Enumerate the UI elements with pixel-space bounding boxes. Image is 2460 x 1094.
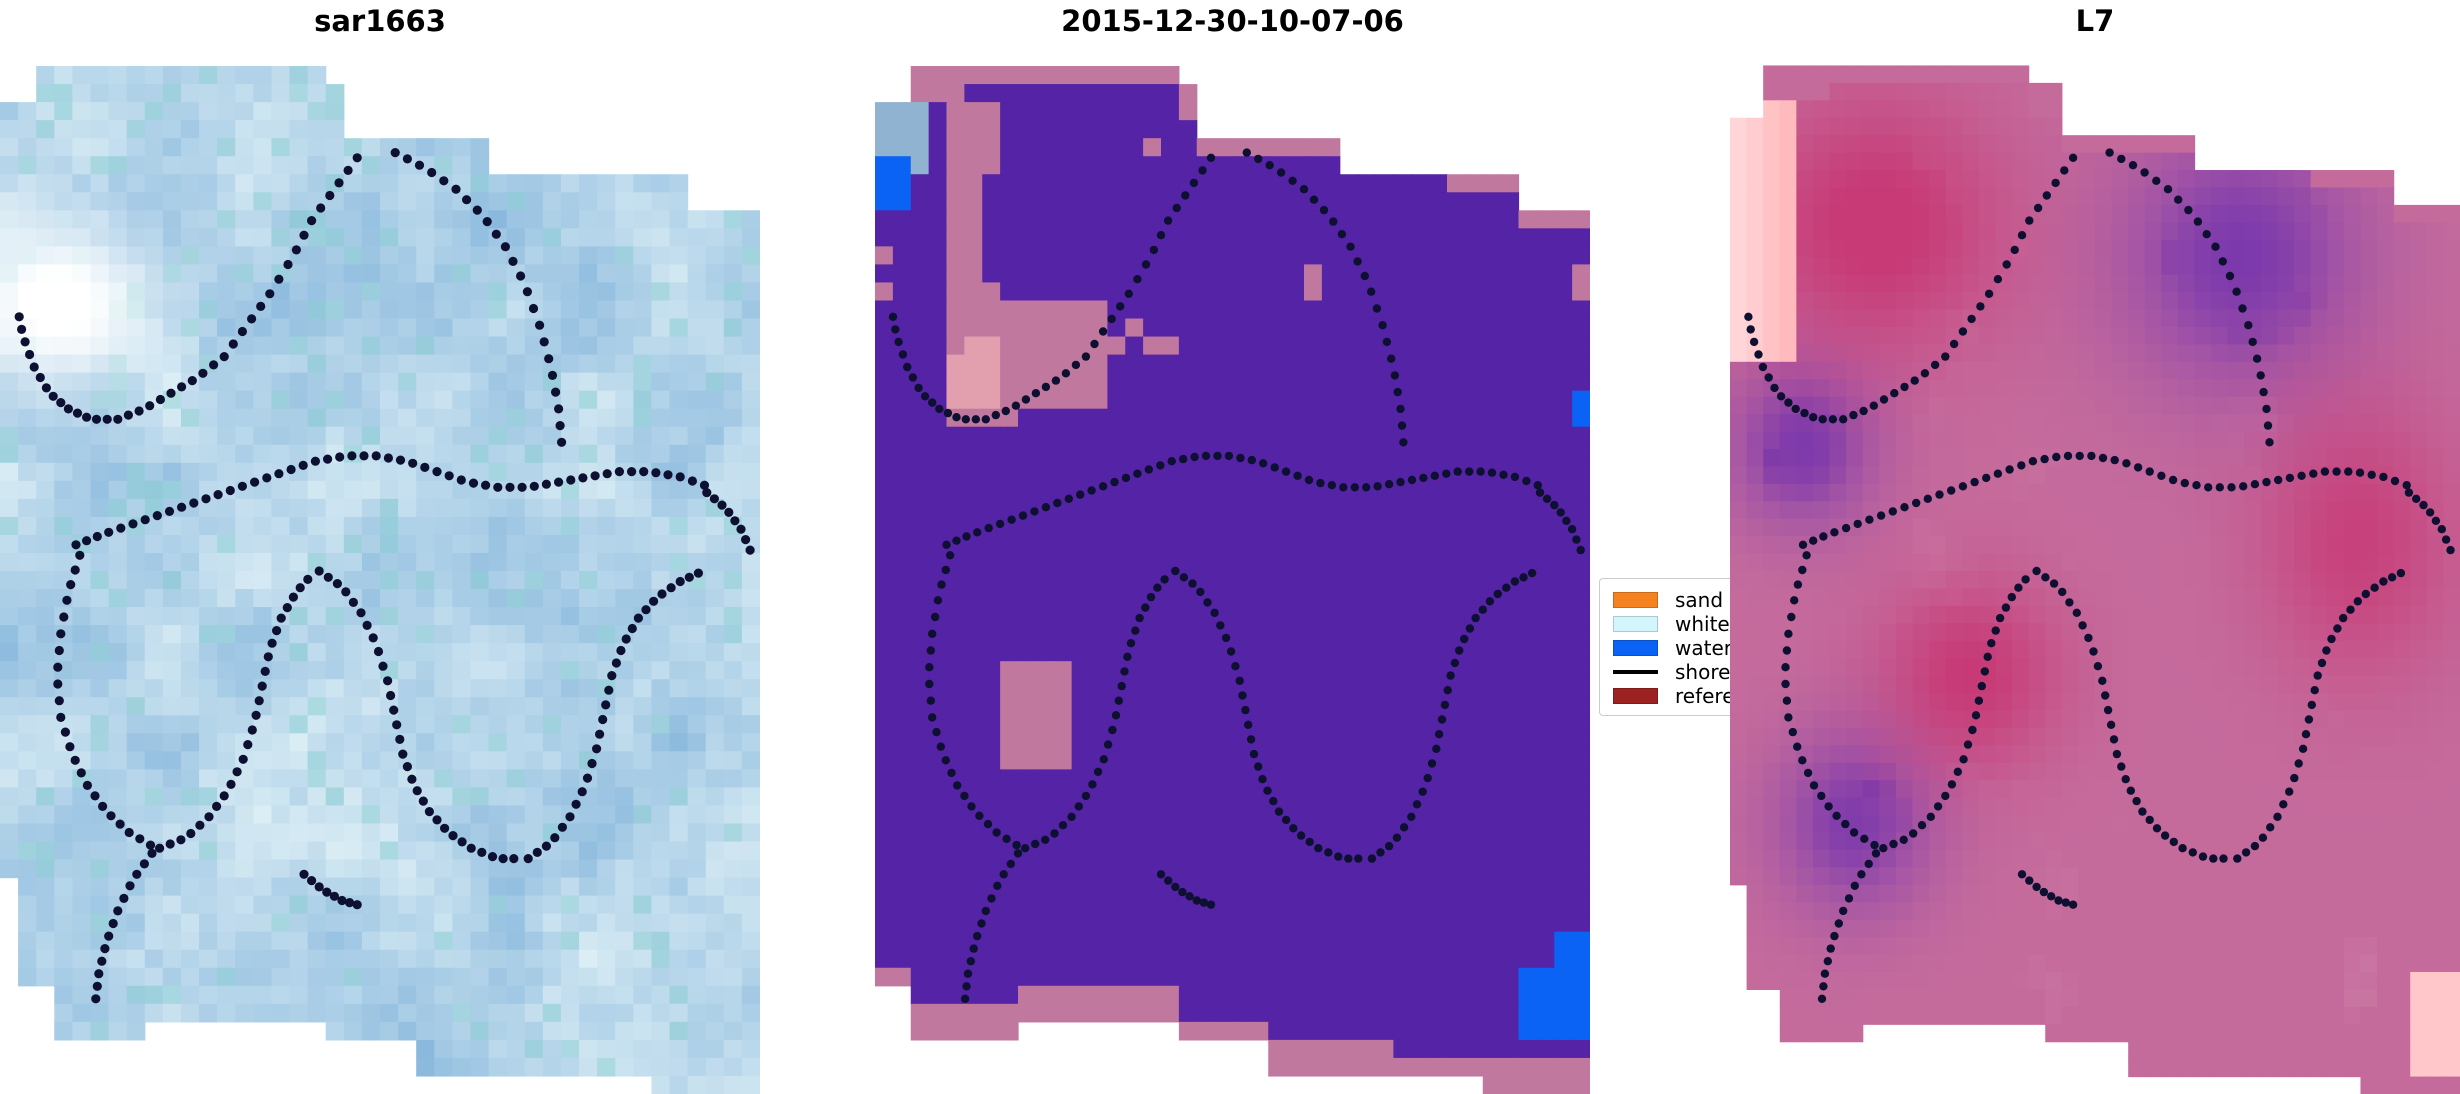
panel-title-classification: 2015-12-30-10-07-06: [875, 4, 1590, 38]
raster-cells: [0, 66, 760, 1094]
legend-label-water: water: [1675, 636, 1732, 660]
raster-cells: [1730, 65, 2460, 1094]
l7-panel[interactable]: [1730, 48, 2460, 1094]
classified-raster-image: [875, 48, 1590, 1094]
raster-cells: [875, 66, 1590, 1094]
whitewater-swatch-icon: [1613, 616, 1658, 632]
legend-label-sand: sand: [1675, 588, 1723, 612]
reference-swatch-icon: [1613, 688, 1658, 704]
sar-composite-image: [0, 48, 760, 1094]
panel-title-sar: sar1663: [0, 4, 760, 38]
shoreline-line-icon: [1613, 670, 1658, 674]
classification-panel[interactable]: [875, 48, 1590, 1094]
figure-canvas: sar1663 2015-12-30-10-07-06 L7 sand whit…: [0, 0, 2460, 1094]
water-swatch-icon: [1613, 640, 1658, 656]
panel-title-l7: L7: [1730, 4, 2460, 38]
landsat7-composite-image: [1730, 48, 2460, 1094]
sar-panel[interactable]: [0, 48, 760, 1094]
sand-swatch-icon: [1613, 592, 1658, 608]
